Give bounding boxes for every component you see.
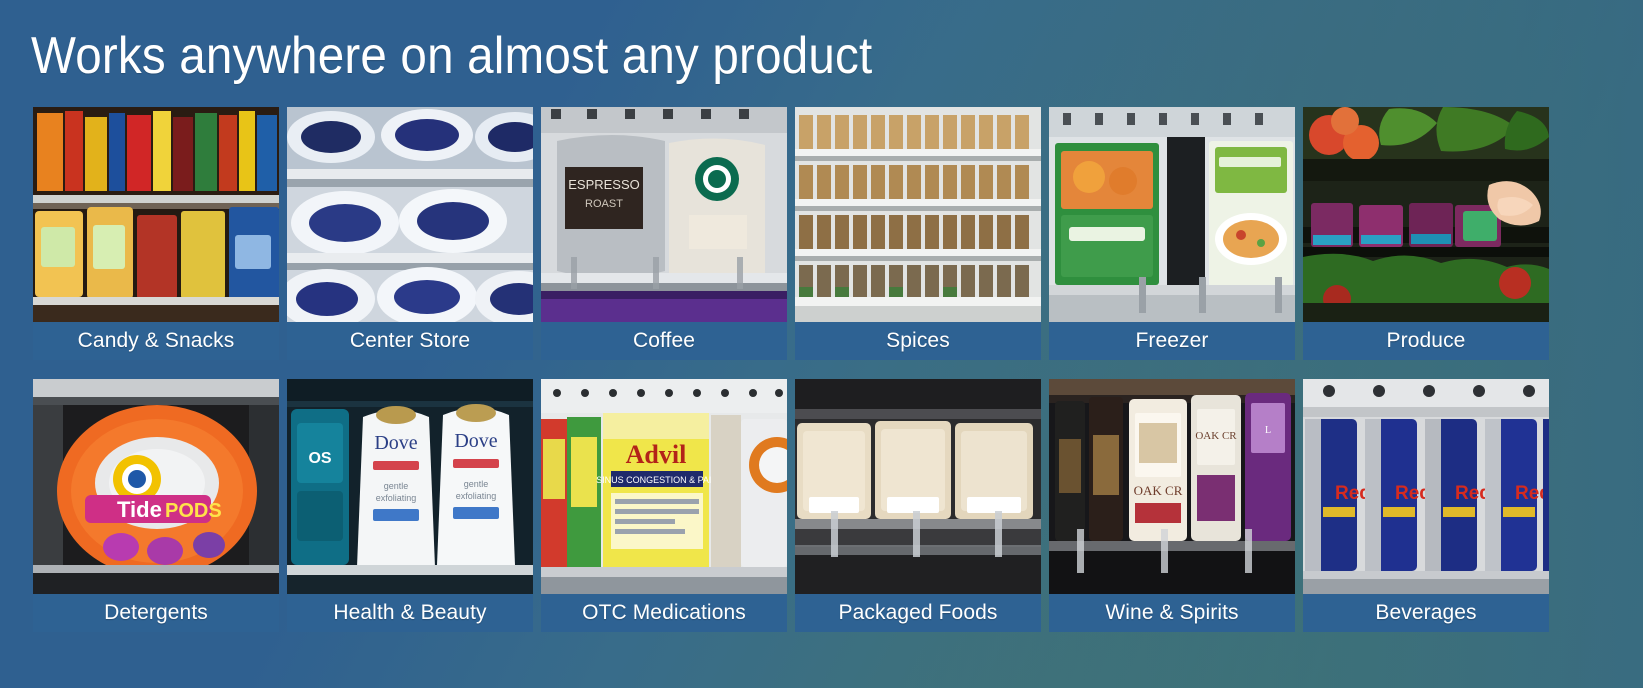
category-label: Packaged Foods xyxy=(795,594,1041,632)
category-tile-candy-snacks[interactable]: Candy & Snacks xyxy=(33,107,279,360)
svg-text:Tide: Tide xyxy=(117,497,162,522)
category-label: Beverages xyxy=(1303,594,1549,632)
svg-text:L: L xyxy=(1265,425,1271,436)
category-tile-beverages[interactable]: Red Red Red xyxy=(1303,379,1549,632)
category-tile-produce[interactable]: Produce xyxy=(1303,107,1549,360)
category-tile-wine-spirits[interactable]: OAK CR OAK CR L xyxy=(1049,379,1295,632)
category-tile-otc-medications[interactable]: Advil SINUS CONGESTION & PAIN xyxy=(541,379,787,632)
shelf-otc-medications-image: Advil SINUS CONGESTION & PAIN xyxy=(541,379,787,594)
shelf-coffee-image: ESPRESSO ROAST xyxy=(541,107,787,322)
category-label: Spices xyxy=(795,322,1041,360)
category-label: Wine & Spirits xyxy=(1049,594,1295,632)
category-label: Freezer xyxy=(1049,322,1295,360)
category-label: Produce xyxy=(1303,322,1549,360)
svg-text:Advil: Advil xyxy=(626,440,687,469)
category-tile-center-store[interactable]: Center Store xyxy=(287,107,533,360)
category-label: Detergents xyxy=(33,594,279,632)
shelf-detergents-image: Tide PODS xyxy=(33,379,279,594)
svg-text:Dove: Dove xyxy=(374,432,417,454)
shelf-center-store-image xyxy=(287,107,533,322)
category-tile-packaged-foods[interactable]: Packaged Foods xyxy=(795,379,1041,632)
svg-text:OAK CR: OAK CR xyxy=(1195,430,1237,442)
svg-text:gentle: gentle xyxy=(384,481,409,491)
svg-text:gentle: gentle xyxy=(464,479,489,489)
svg-text:PODS: PODS xyxy=(165,500,222,522)
svg-text:SINUS CONGESTION & PAIN: SINUS CONGESTION & PAIN xyxy=(596,475,718,485)
svg-text:OAK CR: OAK CR xyxy=(1134,483,1183,498)
shelf-beverages-image: Red Red Red xyxy=(1303,379,1549,594)
slide-canvas: Works anywhere on almost any product xyxy=(0,0,1643,688)
svg-text:ROAST: ROAST xyxy=(585,198,623,210)
shelf-wine-spirits-image: OAK CR OAK CR L xyxy=(1049,379,1295,594)
shelf-freezer-image xyxy=(1049,107,1295,322)
category-label: Center Store xyxy=(287,322,533,360)
svg-text:exfoliating: exfoliating xyxy=(376,493,417,503)
category-label: Candy & Snacks xyxy=(33,322,279,360)
category-tile-coffee[interactable]: ESPRESSO ROAST xyxy=(541,107,787,360)
svg-text:exfoliating: exfoliating xyxy=(456,491,497,501)
category-row-1: Candy & Snacks xyxy=(33,107,1643,360)
category-tile-detergents[interactable]: Tide PODS Detergents xyxy=(33,379,279,632)
category-row-2: Tide PODS Detergents xyxy=(33,379,1643,632)
category-label: OTC Medications xyxy=(541,594,787,632)
category-tile-spices[interactable]: Spices xyxy=(795,107,1041,360)
svg-text:Dove: Dove xyxy=(454,430,497,452)
category-label: Health & Beauty xyxy=(287,594,533,632)
category-tile-freezer[interactable]: Freezer xyxy=(1049,107,1295,360)
shelf-spices-image xyxy=(795,107,1041,322)
product-category-grid: Candy & Snacks xyxy=(33,107,1643,651)
shelf-packaged-foods-image xyxy=(795,379,1041,594)
shelf-candy-snacks-image xyxy=(33,107,279,322)
category-tile-health-beauty[interactable]: OS Dove gentle exfoliating Dove gent xyxy=(287,379,533,632)
svg-text:OS: OS xyxy=(308,450,331,467)
shelf-produce-image xyxy=(1303,107,1549,322)
shelf-health-beauty-image: OS Dove gentle exfoliating Dove gent xyxy=(287,379,533,594)
svg-text:ESPRESSO: ESPRESSO xyxy=(568,177,640,192)
page-title: Works anywhere on almost any product xyxy=(31,26,872,86)
category-label: Coffee xyxy=(541,322,787,360)
